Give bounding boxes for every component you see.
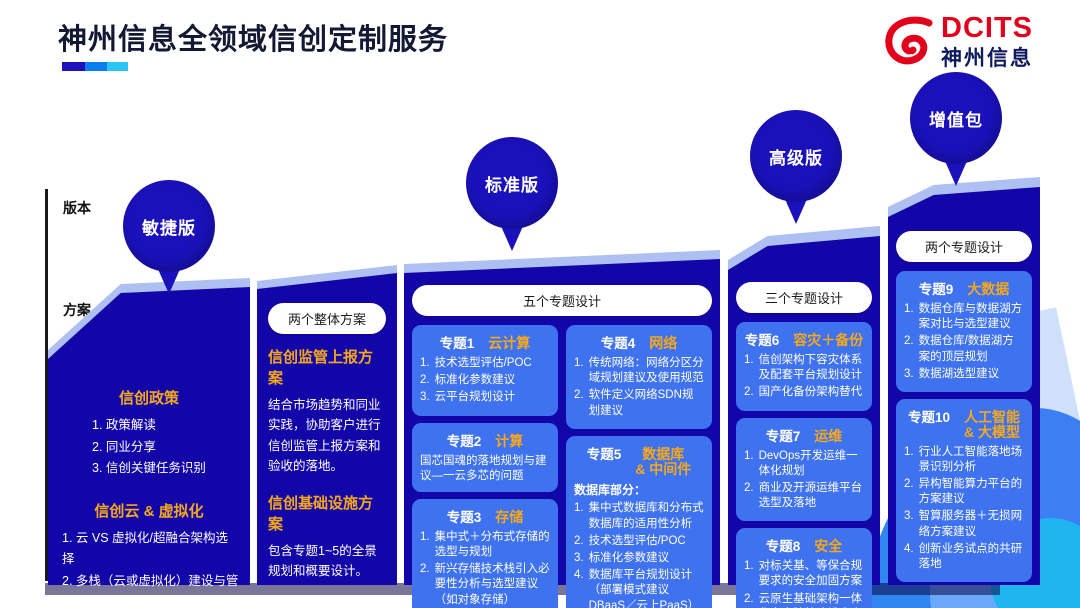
pin-marker-advanced-edition[interactable]: 高级版	[750, 110, 842, 202]
pill-five-topic-designs[interactable]: 五个专题设计	[412, 285, 712, 316]
topic-card-operations[interactable]: 专题7 运维 1.DevOps开发运维一体化规划 2.商业及开源运维平台选型及落…	[736, 418, 872, 522]
topic-name: 存储	[495, 510, 523, 525]
list-item: 1.行业人工智能落地场景识别分析	[904, 445, 1024, 475]
title-underline-rule	[62, 62, 128, 71]
axis-label-version: 版本	[63, 198, 91, 218]
dcits-logo: DCITS 神州信息	[883, 10, 1058, 72]
topic-number: 专题8	[766, 535, 801, 555]
list-item: 3.云平台规划设计	[420, 390, 550, 405]
logo-chinese-name: 神州信息	[941, 42, 1033, 72]
list-item: 2.云原生基础架构一体化安全防护建设方案	[744, 592, 864, 608]
list-item: 2.商业及开源运维平台选型及落地	[744, 481, 864, 511]
list-item: 2.软件定义网络SDN规划建议	[574, 388, 704, 418]
topic-card-dr-backup[interactable]: 专题6 容灾＋备份 1.信创架构下容灾体系及配套平台规划设计 2.国产化备份架构…	[736, 322, 872, 411]
pin-label: 高级版	[750, 110, 842, 202]
list-item: 1.数据仓库与数据湖方案对比与选型建议	[904, 302, 1024, 332]
list-item: 2. 多栈（云或虚拟化）建设与管理	[62, 571, 240, 608]
list-item: 2. 同业分享	[92, 437, 240, 459]
topic-card-security[interactable]: 专题8 安全 1.对标关基、等保合规要求的安全加固方案 2.云原生基础架构一体化…	[736, 528, 872, 608]
topic-name: 大数据	[967, 282, 1009, 297]
list-item: 4.创新业务试点的共研落地	[904, 542, 1024, 572]
topic-name: 安全	[814, 539, 842, 554]
list-item: 1.信创架构下容灾体系及配套平台规划设计	[744, 353, 864, 383]
list-item: 4.数据库平台规划设计（部署模式建议 DBaaS／云上PaaS）	[574, 568, 704, 608]
column-agile-edition: 信创政策 1. 政策解读 2. 同业分享 3. 信创关键任务识别 信创云 & 虚…	[48, 287, 250, 585]
list-item: 1.技术选型评估/POC	[420, 356, 550, 371]
column-three-topic-designs: 三个专题设计 专题6 容灾＋备份 1.信创架构下容灾体系及配套平台规划设计 2.…	[728, 236, 880, 585]
pill-three-topic-designs[interactable]: 三个专题设计	[736, 282, 872, 313]
topic-name: 数据库 & 中间件	[635, 447, 691, 478]
topic-card-database-middleware[interactable]: 专题5 数据库 & 中间件 数据库部分： 1.集中式数据库和分布式数据库的适用性…	[566, 436, 712, 608]
list-item: 1. 云 VS 虚拟化/超融合架构选择	[62, 528, 240, 571]
topic-name: 云计算	[488, 336, 530, 351]
pill-two-overall-plans[interactable]: 两个整体方案	[268, 303, 386, 334]
list-item: 2.数据仓库/数据湖方案的顶层规划	[904, 334, 1024, 364]
topic-name: 运维	[814, 429, 842, 444]
pin-marker-standard-edition[interactable]: 标准版	[466, 137, 558, 229]
topic-paragraph: 国芯国魂的落地规划与建议—一云多芯的问题	[420, 454, 550, 484]
list-item: 2.国产化备份架构替代	[744, 385, 864, 400]
pill-two-topic-designs[interactable]: 两个专题设计	[896, 231, 1032, 262]
pin-marker-agile-edition[interactable]: 敏捷版	[123, 180, 215, 272]
column-two-topic-designs-value-added: 两个专题设计 专题9 大数据 1.数据仓库与数据湖方案对比与选型建议 2.数据仓…	[888, 187, 1040, 585]
list-item: 1. 政策解读	[92, 415, 240, 437]
block-text: 包含专题1~5的全景规划和概要设计。	[268, 541, 386, 582]
topic-number: 专题4	[601, 332, 636, 352]
list-item: 3.智算服务器＋无损网络方案建议	[904, 509, 1024, 539]
section-title: 信创政策	[58, 387, 240, 408]
pin-label: 增值包	[910, 72, 1002, 164]
topic-card-ai-large-model[interactable]: 专题10 人工智能 & 大模型 1.行业人工智能落地场景识别分析 2.异构智能算…	[896, 399, 1032, 582]
section-xinchuang-cloud-virtualization: 信创云 & 虚拟化 1. 云 VS 虚拟化/超融合架构选择 2. 多栈（云或虚拟…	[58, 500, 240, 608]
slide-canvas: 神州信息全领域信创定制服务 DCITS 神州信息 版本 方案 信创政策 1. 政…	[0, 0, 1080, 608]
topic-number: 专题6	[745, 329, 780, 349]
topic-name: 容灾＋备份	[793, 333, 863, 348]
column-two-overall-plans: 两个整体方案 信创监管上报方案 结合市场趋势和同业实践，协助客户进行信创监管上报…	[257, 273, 397, 585]
list-item: 1.对标关基、等保合规要求的安全加固方案	[744, 559, 864, 589]
topic-card-cloud-computing[interactable]: 专题1 云计算 1.技术选型评估/POC 2.标准化参数建议 3.云平台规划设计	[412, 325, 558, 416]
page-title: 神州信息全领域信创定制服务	[58, 16, 448, 58]
list-item: 1.集中式＋分布式存储的选型与规划	[420, 530, 550, 560]
list-item: 3.标准化参数建议	[574, 551, 704, 566]
topic-number: 专题9	[919, 278, 954, 298]
pin-label: 标准版	[466, 137, 558, 229]
list-item: 1.集中式数据库和分布式数据库的适用性分析	[574, 501, 704, 531]
topic-number: 专题3	[447, 506, 482, 526]
logo-wordmark: DCITS	[941, 12, 1033, 45]
block-infrastructure-plan: 信创基础设施方案 包含专题1~5的全景规划和概要设计。	[268, 492, 386, 582]
topic-card-big-data[interactable]: 专题9 大数据 1.数据仓库与数据湖方案对比与选型建议 2.数据仓库/数据湖方案…	[896, 271, 1032, 392]
list-item: 1.传统网络：网络分区分域规划建议及使用规范	[574, 356, 704, 386]
topic-number: 专题10	[908, 406, 950, 426]
column-five-topic-designs: 五个专题设计 专题1 云计算 1.技术选型评估/POC 2.标准化参数建议 3.…	[404, 259, 720, 585]
topic-card-computing[interactable]: 专题2 计算 国芯国魂的落地规划与建议—一云多芯的问题	[412, 423, 558, 492]
topic-name: 计算	[495, 434, 523, 449]
topic-number: 专题5	[587, 443, 622, 463]
section-title: 信创云 & 虚拟化	[58, 500, 240, 521]
topic-card-storage[interactable]: 专题3 存储 1.集中式＋分布式存储的选型与规划 2.新兴存储技术栈引入必要性分…	[412, 499, 558, 608]
section-xinchuang-policy: 信创政策 1. 政策解读 2. 同业分享 3. 信创关键任务识别	[58, 387, 240, 480]
topic-name: 网络	[649, 336, 677, 351]
block-title: 信创基础设施方案	[268, 492, 386, 534]
list-item: 2.标准化参数建议	[420, 373, 550, 388]
list-item: 1.DevOps开发运维一体化规划	[744, 449, 864, 479]
topic-number: 专题2	[447, 430, 482, 450]
subsection-title: 数据库部分：	[574, 481, 704, 498]
block-text: 结合市场趋势和同业实践，协助客户进行信创监管上报方案和验收的落地。	[268, 395, 386, 476]
list-item: 2.异构智能算力平台的方案建议	[904, 477, 1024, 507]
list-item: 3.数据湖选型建议	[904, 367, 1024, 382]
topic-card-network[interactable]: 专题4 网络 1.传统网络：网络分区分域规划建议及使用规范 2.软件定义网络SD…	[566, 325, 712, 429]
pin-marker-value-added-package[interactable]: 增值包	[910, 72, 1002, 164]
list-item: 2.技术选型评估/POC	[574, 534, 704, 549]
topic-number: 专题1	[440, 332, 475, 352]
topic-number: 专题7	[766, 425, 801, 445]
dcits-swirl-icon	[883, 14, 939, 70]
block-regulatory-reporting-plan: 信创监管上报方案 结合市场趋势和同业实践，协助客户进行信创监管上报方案和验收的落…	[268, 346, 386, 476]
pin-label: 敏捷版	[123, 180, 215, 272]
topic-name: 人工智能 & 大模型	[964, 410, 1020, 441]
list-item: 2.新兴存储技术栈引入必要性分析与选型建议（如对象存储）	[420, 562, 550, 608]
list-item: 3. 信创关键任务识别	[92, 458, 240, 480]
block-title: 信创监管上报方案	[268, 346, 386, 388]
